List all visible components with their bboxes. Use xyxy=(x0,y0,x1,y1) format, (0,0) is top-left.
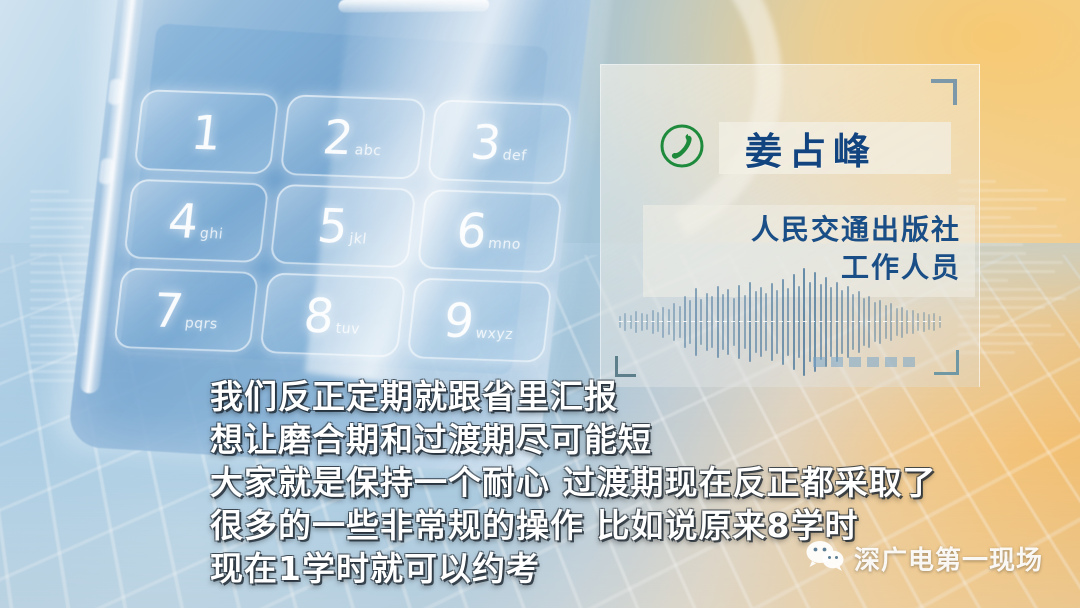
waveform-bar xyxy=(793,274,795,370)
waveform-bar xyxy=(744,295,746,349)
caller-organization-line-2: 工作人员 xyxy=(651,249,961,287)
broadcast-screenshot: 12abc3def4ghi5jkl6mno7pqrs8tuv9wxyz 姜占峰 … xyxy=(0,0,1080,608)
waveform-bar xyxy=(906,310,908,333)
waveform-bar xyxy=(646,314,648,330)
audio-waveform xyxy=(619,283,941,361)
waveform-bar xyxy=(749,282,751,363)
waveform-level-block xyxy=(903,357,915,367)
dialpad-key-letters: wxyz xyxy=(475,326,514,343)
dialpad-key-letters: ghi xyxy=(199,227,224,244)
waveform-bar xyxy=(695,288,697,356)
waveform-bar xyxy=(662,307,664,338)
dialpad-key-2: 2abc xyxy=(280,94,427,179)
dialpad-key-digit: 5 xyxy=(315,204,350,252)
background-faint-text-line xyxy=(30,289,81,292)
waveform-bar xyxy=(830,287,832,357)
watermark-text: 深广电第一现场 xyxy=(854,540,1043,577)
waveform-bar xyxy=(684,296,686,349)
caller-organization-line-1: 人民交通出版社 xyxy=(651,211,961,249)
waveform-bar xyxy=(858,291,860,353)
dialpad-key-letters: mno xyxy=(487,237,521,254)
caller-name-box: 姜占峰 xyxy=(719,122,951,174)
dialpad-key-letters: abc xyxy=(354,142,383,159)
waveform-bar xyxy=(630,315,632,329)
dialpad-key-4: 4ghi xyxy=(123,178,270,263)
waveform-level-block xyxy=(831,357,843,367)
waveform-bar xyxy=(820,284,822,360)
subtitle-line-2: 想让磨合期和过渡期尽可能短 xyxy=(210,419,1030,462)
waveform-bar xyxy=(809,282,811,363)
waveform-bar xyxy=(760,287,762,357)
dialpad-key-8: 8tuv xyxy=(260,273,407,358)
waveform-bar xyxy=(868,296,870,349)
dialpad-key-7: 7pqrs xyxy=(113,268,260,353)
waveform-level-block xyxy=(813,357,825,367)
waveform-level-block xyxy=(867,357,879,367)
waveform-bar xyxy=(727,289,729,354)
dialpad-key-digit: 8 xyxy=(301,293,336,341)
waveform-bar xyxy=(885,305,887,339)
waveform-bar xyxy=(798,286,800,359)
dialpad-key-letters: tuv xyxy=(335,321,361,338)
waveform-bar xyxy=(890,303,892,340)
waveform-bar xyxy=(782,279,784,366)
dialpad-key-digit: 1 xyxy=(189,110,224,158)
background-faint-text-line xyxy=(30,190,69,193)
caller-name: 姜占峰 xyxy=(719,121,877,175)
waveform-bar xyxy=(928,314,930,330)
waveform-bar xyxy=(635,311,637,333)
waveform-center-line xyxy=(619,321,941,322)
waveform-bar xyxy=(803,268,805,377)
waveform-level-block xyxy=(849,357,861,367)
waveform-bar xyxy=(700,299,702,346)
wechat-icon xyxy=(805,540,845,577)
caller-info-panel: 姜占峰 人民交通出版社 工作人员 xyxy=(600,64,980,387)
dialpad-key-digit: 4 xyxy=(166,198,201,246)
dialpad-key-digit: 9 xyxy=(441,298,476,346)
waveform-bar xyxy=(771,283,773,361)
dialpad-key-letters: jkl xyxy=(348,232,367,249)
dialpad-key-5: 5jkl xyxy=(270,183,417,268)
subtitle-line-3: 大家就是保持一个耐心 过渡期现在反正都采取了 xyxy=(210,462,1030,505)
channel-watermark: 深广电第一现场 xyxy=(805,540,1043,577)
waveform-bar xyxy=(901,307,903,338)
dialpad-key-9: 9wxyz xyxy=(406,278,553,363)
waveform-bar xyxy=(668,309,670,335)
waveform-bar xyxy=(787,288,789,356)
corner-bracket-top-right xyxy=(931,79,957,105)
waveform-bar xyxy=(755,291,757,353)
dialpad-key-digit: 6 xyxy=(454,209,489,257)
dialpad-key-digit: 2 xyxy=(320,114,355,162)
waveform-level-blocks xyxy=(813,357,915,367)
dialpad-key-letters: pqrs xyxy=(184,316,219,333)
background-faint-text-line xyxy=(30,325,73,328)
waveform-bar xyxy=(641,313,643,332)
waveform-bar xyxy=(917,313,919,332)
waveform-level-block xyxy=(885,357,897,367)
waveform-bar xyxy=(836,282,838,363)
waveform-bar xyxy=(673,303,675,340)
background-faint-text-line xyxy=(30,226,84,229)
dialpad-key-digit: 7 xyxy=(151,288,186,336)
dialpad-key-1: 1 xyxy=(133,89,280,174)
phone-handset-icon xyxy=(657,121,707,171)
background-faint-text-line xyxy=(30,253,96,256)
waveform-bar xyxy=(825,277,827,367)
subtitle-line-1: 我们反正定期就跟省里汇报 xyxy=(210,376,1030,419)
